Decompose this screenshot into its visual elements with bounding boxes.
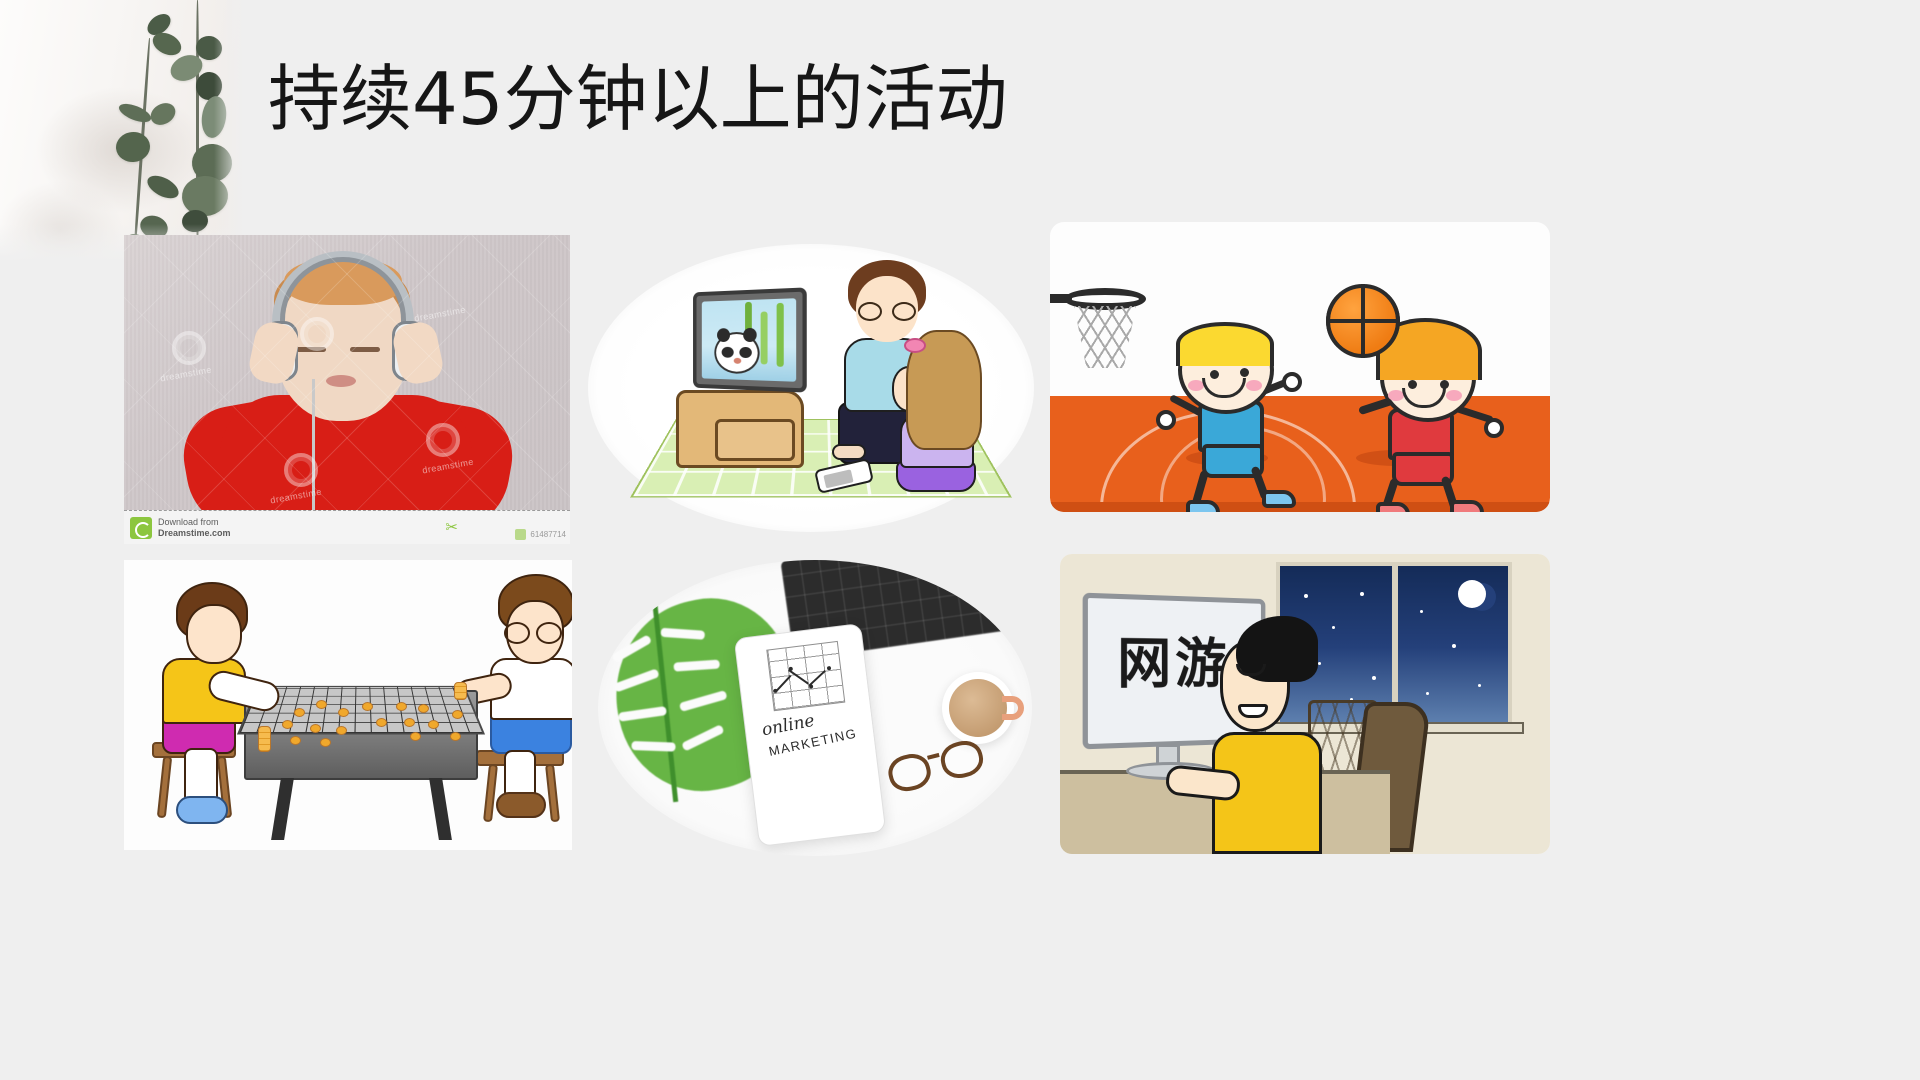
dreamstime-swirl-icon <box>172 331 206 365</box>
chess-piece <box>336 726 347 735</box>
gallery-item-playing-chinese-chess[interactable] <box>124 560 572 850</box>
star <box>1318 662 1321 665</box>
listening-music-photo: dreamstime dreamstime dreamstime dreamst… <box>124 235 570 544</box>
chess-piece <box>362 702 373 711</box>
star <box>1304 594 1308 598</box>
leaf-slit <box>611 634 652 663</box>
chess-piece <box>320 738 331 747</box>
chinese-chess-illustration <box>124 560 572 850</box>
leaf-slit <box>613 668 659 692</box>
kid-red-shoe-right <box>1450 500 1484 512</box>
chess-piece <box>282 720 293 729</box>
watching-tv-illustration <box>580 238 1042 538</box>
star <box>1360 592 1364 596</box>
panda-eye-right <box>739 347 751 358</box>
tv-screen <box>702 298 796 382</box>
boy-left-face <box>186 604 242 664</box>
crescent-moon-icon <box>1458 580 1486 608</box>
monitor-screen-text: 网游 <box>1117 636 1230 692</box>
girl-hair-bow <box>904 338 926 353</box>
chess-piece <box>410 732 421 741</box>
gallery-item-listening-music[interactable]: dreamstime dreamstime dreamstime dreamst… <box>124 235 570 544</box>
panda-nose <box>734 358 742 364</box>
dreamstime-watermark-pattern <box>124 235 570 544</box>
kid-blue-fist-left <box>1156 410 1176 430</box>
eyeglasses <box>884 735 987 799</box>
dreamstime-image-id: 61487714 <box>515 529 566 540</box>
kid-blue-fist-right <box>1282 372 1302 392</box>
hand-drawn-chart <box>766 641 845 711</box>
stool-left-leg <box>157 756 172 819</box>
dreamstime-id-badge-icon <box>515 529 526 540</box>
star <box>1332 626 1335 629</box>
window-mullion <box>1392 566 1398 722</box>
chess-piece <box>316 700 327 709</box>
panda-ear-right <box>743 328 757 342</box>
kid-blue-eye-right <box>1240 368 1249 377</box>
panda-ear-left <box>717 328 730 342</box>
dreamstime-swirl-icon <box>426 423 460 457</box>
leaf-slit <box>681 724 724 751</box>
gallery-item-online-gaming[interactable]: 网游 <box>1060 554 1550 854</box>
boy-right-shoe <box>496 792 546 818</box>
gallery-item-playing-basketball[interactable] <box>1050 222 1550 512</box>
tablet-device: online MARKETING <box>734 623 887 847</box>
chess-piece <box>428 720 439 729</box>
flatlay-vignette: online MARKETING <box>598 560 1032 856</box>
chess-piece <box>338 708 349 717</box>
leaf-slit <box>661 628 706 640</box>
star <box>1478 684 1481 687</box>
star <box>1420 610 1423 613</box>
online-gaming-illustration: 网游 <box>1060 554 1550 854</box>
chess-piece <box>396 702 407 711</box>
boy-right-glasses <box>504 622 562 640</box>
download-line-1: Download from <box>158 517 231 528</box>
page-title: 持续45分钟以上的活动 <box>268 56 1008 144</box>
panda-eye-left <box>722 347 734 358</box>
leaf-slit <box>679 690 728 712</box>
leaf-slit <box>618 706 667 722</box>
scissors-icon: ✂ <box>445 518 458 536</box>
stool-right-leg <box>545 764 560 823</box>
eyeglasses-bridge <box>927 753 940 760</box>
download-line-2: Dreamstime.com <box>158 528 231 538</box>
presentation-slide: 持续45分钟以上的活动 <box>0 0 1920 1080</box>
leaf-slit <box>631 741 675 752</box>
man-mouth <box>1238 704 1268 718</box>
chess-piece <box>310 724 321 733</box>
basketball-illustration <box>1050 222 1550 512</box>
basketball <box>1326 284 1400 358</box>
gallery-item-online-marketing[interactable]: online MARKETING <box>590 558 1040 858</box>
kid-red-cheek-right <box>1446 390 1462 401</box>
tablet-screen-photo <box>751 753 886 846</box>
eyeglasses-lens-right <box>937 737 986 782</box>
dreamstime-swirl-icon <box>300 317 334 351</box>
basketball-seam <box>1326 284 1400 358</box>
table-leg-left <box>271 778 294 840</box>
star <box>1372 676 1376 680</box>
dreamstime-swirl-icon <box>284 453 318 487</box>
dreamstime-id-number: 61487714 <box>530 530 566 539</box>
boy-left-shoe <box>176 796 228 824</box>
bamboo-stalk <box>761 311 768 364</box>
star <box>1452 644 1456 648</box>
chess-piece <box>452 710 463 719</box>
chess-piece <box>450 732 461 741</box>
leaf-slit <box>673 659 720 671</box>
father-foot <box>832 444 866 460</box>
image-gallery: dreamstime dreamstime dreamstime dreamst… <box>0 210 1920 1080</box>
father-glasses <box>858 302 916 317</box>
chess-piece <box>294 708 305 717</box>
kid-red-fist-right <box>1484 418 1504 438</box>
kid-blue-hair <box>1176 322 1274 366</box>
coffee-cup-handle <box>1002 696 1024 720</box>
stool-right-leg <box>483 764 498 823</box>
tablet-screen-top: online MARKETING <box>735 624 876 766</box>
kid-red-shoe-left <box>1376 502 1410 512</box>
dreamstime-download-label: Download from Dreamstime.com <box>158 517 231 539</box>
dreamstime-download-bar: Download from Dreamstime.com ✂ <box>124 510 570 544</box>
chess-piece <box>404 718 415 727</box>
dreamstime-logo-icon <box>130 517 152 539</box>
television <box>693 287 807 392</box>
basketball-net <box>1074 306 1136 368</box>
bamboo-stalk <box>777 303 784 367</box>
panda-character <box>714 332 759 374</box>
chess-piece <box>290 736 301 745</box>
chess-piece <box>376 718 387 727</box>
tv-cabinet <box>676 390 804 468</box>
online-marketing-photo: online MARKETING <box>590 558 1040 858</box>
gallery-item-watching-tv[interactable] <box>580 238 1042 538</box>
kid-blue-shoe-right <box>1262 490 1296 508</box>
captured-piece-stack-left <box>258 726 271 752</box>
star <box>1426 692 1429 695</box>
captured-piece-stack-right <box>454 682 467 700</box>
kid-blue-cheek-right <box>1246 380 1262 391</box>
table-leg-right <box>429 778 452 840</box>
kid-blue-shoe-left <box>1186 500 1220 512</box>
chess-piece <box>418 704 429 713</box>
